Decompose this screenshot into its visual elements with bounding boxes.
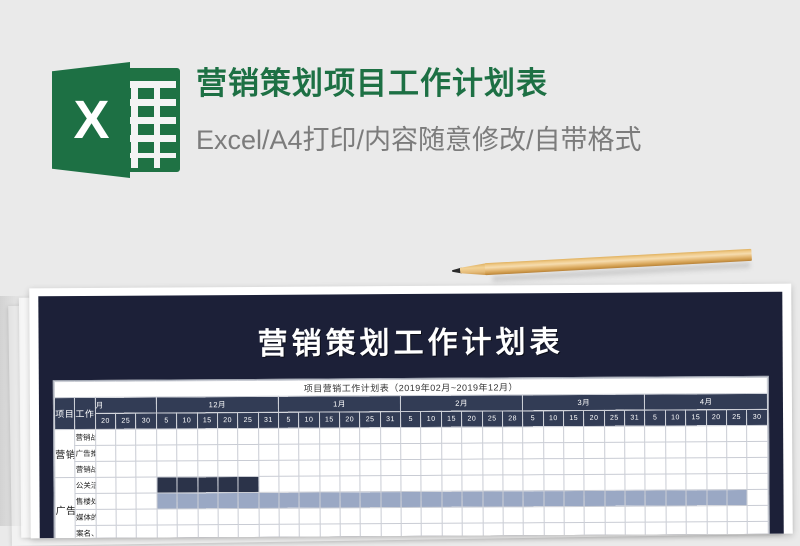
gantt-empty-cell[interactable] (218, 525, 238, 539)
gantt-bar-cell[interactable] (645, 490, 665, 506)
gantt-empty-cell[interactable] (157, 509, 177, 525)
gantt-bar-cell[interactable] (544, 491, 564, 507)
gantt-bar-cell[interactable] (360, 492, 380, 508)
task-label: 广告推广方案制订 (75, 445, 95, 461)
day-header: 31 (258, 412, 278, 428)
gantt-empty-cell[interactable] (462, 507, 482, 523)
brand-text-block: 营销策划项目工作计划表 Excel/A4打印/内容随意修改/自带格式 (196, 62, 642, 157)
project-group-1: 广告宣传 (55, 478, 76, 539)
gantt-empty-cell[interactable] (360, 476, 380, 492)
gantt-empty-cell[interactable] (299, 508, 319, 524)
gantt-empty-cell[interactable] (544, 507, 564, 523)
gantt-empty-cell[interactable] (116, 477, 136, 493)
day-header: 28 (502, 411, 522, 427)
gantt-empty-cell[interactable] (523, 443, 543, 459)
gantt-empty-cell[interactable] (523, 459, 543, 475)
gantt-empty-cell[interactable] (707, 506, 727, 522)
column-header-task: 工作事项 (75, 397, 96, 429)
gantt-empty-cell[interactable] (605, 474, 625, 490)
gantt-empty-cell[interactable] (503, 443, 523, 459)
gantt-empty-cell[interactable] (137, 509, 157, 525)
gantt-bar-cell[interactable] (259, 492, 279, 508)
gantt-empty-cell[interactable] (217, 429, 237, 445)
gantt-empty-cell[interactable] (360, 428, 380, 444)
gantt-empty-cell[interactable] (380, 428, 400, 444)
gantt-empty-cell[interactable] (422, 507, 442, 523)
gantt-empty-cell[interactable] (421, 427, 441, 443)
gantt-empty-cell[interactable] (584, 442, 604, 458)
gantt-bar-cell[interactable] (177, 493, 197, 509)
gantt-empty-cell[interactable] (625, 506, 645, 522)
gantt-empty-cell[interactable] (136, 477, 156, 493)
gantt-empty-cell[interactable] (381, 460, 401, 476)
gantt-empty-cell[interactable] (319, 460, 339, 476)
gantt-empty-cell[interactable] (157, 445, 177, 461)
gantt-empty-cell[interactable] (157, 525, 177, 538)
day-header: 25 (360, 412, 380, 428)
day-header: 20 (706, 410, 726, 426)
gantt-empty-cell[interactable] (197, 445, 217, 461)
task-label: 案名、logo初稿 (76, 525, 96, 538)
gantt-empty-cell[interactable] (665, 442, 685, 458)
gantt-grid: 项目营销工作计划表（2019年02月~2019年12月）项目工作事项月12月1月… (53, 376, 770, 538)
gantt-empty-cell[interactable] (218, 509, 238, 525)
gantt-empty-cell[interactable] (238, 508, 258, 524)
gantt-empty-cell[interactable] (258, 444, 278, 460)
gantt-empty-cell[interactable] (442, 475, 462, 491)
gantt-empty-cell[interactable] (564, 506, 584, 522)
gantt-bar-cell[interactable] (218, 493, 238, 509)
gantt-empty-cell[interactable] (258, 476, 278, 492)
day-header: 31 (380, 412, 400, 428)
gantt-empty-cell[interactable] (666, 458, 686, 474)
gantt-empty-cell[interactable] (523, 475, 543, 491)
gantt-empty-cell[interactable] (645, 458, 665, 474)
gantt-empty-cell[interactable] (198, 525, 218, 539)
page-subtitle: Excel/A4打印/内容随意修改/自带格式 (196, 118, 642, 157)
gantt-empty-cell[interactable] (523, 507, 543, 523)
gantt-bar-cell[interactable] (279, 492, 299, 508)
gantt-empty-cell[interactable] (360, 444, 380, 460)
gantt-empty-cell[interactable] (564, 458, 584, 474)
day-header: 20 (462, 411, 482, 427)
gantt-empty-cell[interactable] (299, 428, 319, 444)
gantt-empty-cell[interactable] (340, 428, 360, 444)
gantt-empty-cell[interactable] (645, 474, 665, 490)
gantt-bar-cell[interactable] (442, 491, 462, 507)
gantt-empty-cell[interactable] (381, 476, 401, 492)
gantt-empty-cell[interactable] (604, 426, 624, 442)
gantt-bar-cell[interactable] (666, 490, 686, 506)
gantt-empty-cell[interactable] (258, 428, 278, 444)
gantt-empty-cell[interactable] (116, 461, 136, 477)
gantt-empty-cell[interactable] (319, 428, 339, 444)
gantt-bar-cell[interactable] (320, 492, 340, 508)
gantt-empty-cell[interactable] (483, 507, 503, 523)
project-group-0: 营销战略制定 (55, 430, 76, 478)
sheet-title: 营销策划工作计划表 (38, 292, 782, 381)
gantt-empty-cell[interactable] (116, 493, 136, 509)
month-header-5: 4月 (645, 393, 768, 410)
month-header-1: 12月 (156, 396, 278, 413)
gantt-bar-cell[interactable] (564, 490, 584, 506)
gantt-empty-cell[interactable] (300, 524, 320, 538)
gantt-bar-cell[interactable] (605, 490, 625, 506)
gantt-empty-cell[interactable] (544, 475, 564, 491)
gantt-empty-cell[interactable] (686, 506, 706, 522)
gantt-empty-cell[interactable] (584, 506, 604, 522)
gantt-bar-cell[interactable] (706, 490, 726, 506)
gantt-empty-cell[interactable] (665, 426, 685, 442)
gantt-empty-cell[interactable] (279, 508, 299, 524)
excel-logo-icon: X (52, 62, 180, 178)
gantt-empty-cell[interactable] (401, 427, 421, 443)
gantt-empty-cell[interactable] (340, 460, 360, 476)
gantt-empty-cell[interactable] (299, 460, 319, 476)
gantt-empty-cell[interactable] (320, 476, 340, 492)
day-header: 30 (136, 413, 156, 429)
day-header: 30 (747, 409, 768, 425)
month-header-3: 2月 (401, 395, 523, 412)
gantt-bar-cell[interactable] (218, 477, 238, 493)
gantt-bar-cell[interactable] (686, 490, 706, 506)
gantt-empty-cell[interactable] (625, 474, 645, 490)
gantt-empty-cell[interactable] (401, 507, 421, 523)
day-header: 5 (278, 412, 298, 428)
gantt-empty-cell[interactable] (136, 429, 156, 445)
gantt-empty-cell[interactable] (747, 425, 768, 441)
gantt-empty-cell[interactable] (747, 473, 768, 489)
day-header: 20 (584, 410, 604, 426)
day-header: 10 (421, 411, 441, 427)
month-header-2: 1月 (278, 396, 400, 413)
gantt-empty-cell[interactable] (177, 445, 197, 461)
day-header: 5 (645, 410, 665, 426)
gantt-bar-cell[interactable] (238, 476, 258, 492)
gantt-bar-cell[interactable] (177, 477, 197, 493)
gantt-bar-cell[interactable] (381, 492, 401, 508)
gantt-empty-cell[interactable] (686, 522, 706, 538)
gantt-empty-cell[interactable] (177, 461, 197, 477)
gantt-empty-cell[interactable] (442, 443, 462, 459)
gantt-empty-cell[interactable] (523, 427, 543, 443)
gantt-empty-cell[interactable] (727, 521, 747, 537)
gantt-empty-cell[interactable] (96, 493, 116, 509)
gantt-empty-cell[interactable] (320, 524, 340, 538)
gantt-bar-cell[interactable] (157, 493, 177, 509)
gantt-bar-cell[interactable] (340, 492, 360, 508)
day-header: 25 (238, 412, 258, 428)
gantt-empty-cell[interactable] (96, 525, 116, 538)
task-label: 售楼处开放活动方案和执行计划 (75, 493, 95, 509)
day-header: 10 (299, 412, 319, 428)
gantt-empty-cell[interactable] (279, 428, 299, 444)
task-label: 营销战略执行方案制订 (75, 429, 95, 445)
gantt-empty-cell[interactable] (197, 429, 217, 445)
task-label: 公关活动整合方案 (75, 477, 95, 493)
gantt-empty-cell[interactable] (197, 461, 217, 477)
gantt-bar-cell[interactable] (483, 491, 503, 507)
gantt-empty-cell[interactable] (727, 441, 747, 457)
column-header-project: 项目 (54, 398, 75, 430)
gantt-empty-cell[interactable] (95, 429, 115, 445)
gantt-empty-cell[interactable] (259, 508, 279, 524)
gantt-empty-cell[interactable] (543, 443, 563, 459)
gantt-bar-cell[interactable] (238, 492, 258, 508)
gantt-empty-cell[interactable] (238, 444, 258, 460)
day-header: 20 (217, 413, 237, 429)
gantt-empty-cell[interactable] (421, 459, 441, 475)
gantt-empty-cell[interactable] (503, 427, 523, 443)
gantt-empty-cell[interactable] (747, 457, 768, 473)
gantt-empty-cell[interactable] (279, 460, 299, 476)
gantt-empty-cell[interactable] (604, 458, 624, 474)
gantt-empty-cell[interactable] (543, 427, 563, 443)
gantt-empty-cell[interactable] (686, 458, 706, 474)
gantt-empty-cell[interactable] (706, 474, 726, 490)
gantt-empty-cell[interactable] (543, 459, 563, 475)
gantt-bar-cell[interactable] (625, 490, 645, 506)
gantt-empty-cell[interactable] (218, 445, 238, 461)
page-title: 营销策划项目工作计划表 (196, 64, 642, 104)
gantt-empty-cell[interactable] (258, 460, 278, 476)
gantt-empty-cell[interactable] (116, 525, 136, 538)
gantt-empty-cell[interactable] (727, 457, 747, 473)
gantt-empty-cell[interactable] (95, 445, 115, 461)
gantt-empty-cell[interactable] (564, 426, 584, 442)
gantt-empty-cell[interactable] (503, 507, 523, 523)
gantt-empty-cell[interactable] (584, 426, 604, 442)
day-header: 15 (319, 412, 339, 428)
day-header: 25 (116, 413, 136, 429)
gantt-empty-cell[interactable] (238, 460, 258, 476)
gantt-empty-cell[interactable] (646, 506, 666, 522)
preview-card: 营销策划工作计划表 项目营销工作计划表（2019年02月~2019年12月）项目… (29, 284, 793, 539)
gantt-empty-cell[interactable] (726, 425, 746, 441)
gantt-empty-cell[interactable] (116, 509, 136, 525)
gantt-empty-cell[interactable] (666, 474, 686, 490)
gantt-empty-cell[interactable] (96, 509, 116, 525)
gantt-empty-cell[interactable] (156, 429, 176, 445)
gantt-empty-cell[interactable] (442, 507, 462, 523)
gantt-bar-cell[interactable] (157, 477, 177, 493)
gantt-empty-cell[interactable] (625, 426, 645, 442)
gantt-empty-cell[interactable] (320, 508, 340, 524)
gantt-empty-cell[interactable] (279, 476, 299, 492)
gantt-empty-cell[interactable] (319, 444, 339, 460)
gantt-empty-cell[interactable] (605, 506, 625, 522)
gantt-empty-cell[interactable] (177, 525, 197, 538)
gantt-empty-cell[interactable] (686, 474, 706, 490)
gantt-empty-cell[interactable] (604, 442, 624, 458)
gantt-empty-cell[interactable] (482, 459, 502, 475)
month-header-4: 3月 (523, 394, 645, 411)
gantt-empty-cell[interactable] (482, 427, 502, 443)
gantt-empty-cell[interactable] (381, 508, 401, 524)
gantt-bar-cell[interactable] (584, 490, 604, 506)
gantt-empty-cell[interactable] (401, 475, 421, 491)
gantt-empty-cell[interactable] (462, 475, 482, 491)
gantt-empty-cell[interactable] (421, 443, 441, 459)
gantt-empty-cell[interactable] (482, 443, 502, 459)
task-label: 营销战略和广告推广方案确定 (75, 461, 95, 477)
gantt-empty-cell[interactable] (340, 444, 360, 460)
gantt-empty-cell[interactable] (421, 475, 441, 491)
gantt-empty-cell[interactable] (503, 475, 523, 491)
month-header-0: 月 (95, 397, 156, 413)
gantt-bar-cell[interactable] (299, 492, 319, 508)
gantt-empty-cell[interactable] (482, 475, 502, 491)
gantt-empty-cell[interactable] (747, 505, 768, 521)
gantt-empty-cell[interactable] (707, 522, 727, 538)
gantt-empty-cell[interactable] (96, 461, 116, 477)
gantt-empty-cell[interactable] (136, 493, 156, 509)
pencil-wood-cone (460, 263, 488, 276)
day-header: 25 (482, 411, 502, 427)
gantt-empty-cell[interactable] (401, 443, 421, 459)
gantt-empty-cell[interactable] (625, 458, 645, 474)
gantt-empty-cell[interactable] (747, 521, 768, 537)
day-header: 15 (686, 410, 706, 426)
brand-header: X 营销策划项目工作计划表 Excel/A4打印/内容随意修改/自带格式 (52, 62, 642, 178)
gantt-bar-cell[interactable] (198, 493, 218, 509)
gantt-bar-cell[interactable] (197, 477, 217, 493)
day-header: 15 (441, 411, 461, 427)
gantt-empty-cell[interactable] (645, 442, 665, 458)
gantt-empty-cell[interactable] (279, 444, 299, 460)
day-header: 20 (95, 413, 115, 429)
day-header: 10 (177, 413, 197, 429)
gantt-empty-cell[interactable] (441, 427, 461, 443)
gantt-empty-cell[interactable] (340, 508, 360, 524)
gantt-empty-cell[interactable] (218, 461, 238, 477)
gantt-empty-cell[interactable] (584, 458, 604, 474)
gantt-empty-cell[interactable] (177, 509, 197, 525)
gantt-empty-cell[interactable] (299, 444, 319, 460)
task-label: 媒体的选择计划 (75, 509, 95, 525)
gantt-empty-cell[interactable] (747, 489, 768, 505)
gantt-empty-cell[interactable] (727, 505, 747, 521)
gantt-empty-cell[interactable] (584, 474, 604, 490)
gantt-empty-cell[interactable] (177, 429, 197, 445)
gantt-empty-cell[interactable] (503, 459, 523, 475)
gantt-bar-cell[interactable] (462, 491, 482, 507)
gantt-empty-cell[interactable] (564, 442, 584, 458)
gantt-empty-cell[interactable] (625, 442, 645, 458)
gantt-empty-cell[interactable] (747, 441, 768, 457)
gantt-empty-cell[interactable] (564, 474, 584, 490)
gantt-table: 项目营销工作计划表（2019年02月~2019年12月）项目工作事项月12月1月… (54, 377, 769, 538)
gantt-empty-cell[interactable] (238, 524, 258, 538)
gantt-empty-cell[interactable] (360, 460, 380, 476)
gantt-bar-cell[interactable] (421, 491, 441, 507)
gantt-empty-cell[interactable] (686, 442, 706, 458)
gantt-empty-cell[interactable] (360, 508, 380, 524)
gantt-empty-cell[interactable] (238, 428, 258, 444)
day-header: 25 (726, 409, 746, 425)
logo-letter: X (52, 62, 130, 178)
gantt-bar-cell[interactable] (727, 489, 747, 505)
gantt-empty-cell[interactable] (299, 476, 319, 492)
gantt-empty-cell[interactable] (727, 473, 747, 489)
day-header: 10 (543, 411, 563, 427)
day-header: 5 (401, 411, 421, 427)
gantt-empty-cell[interactable] (279, 524, 299, 538)
gantt-empty-cell[interactable] (116, 445, 136, 461)
gantt-empty-cell[interactable] (462, 443, 482, 459)
gantt-empty-cell[interactable] (706, 442, 726, 458)
day-header: 5 (156, 413, 176, 429)
gantt-bar-cell[interactable] (523, 491, 543, 507)
gantt-empty-cell[interactable] (462, 427, 482, 443)
day-header: 5 (523, 411, 543, 427)
gantt-empty-cell[interactable] (380, 444, 400, 460)
gantt-empty-cell[interactable] (116, 429, 136, 445)
gantt-empty-cell[interactable] (442, 459, 462, 475)
gantt-empty-cell[interactable] (136, 461, 156, 477)
day-header: 20 (340, 412, 360, 428)
day-header: 25 (604, 410, 624, 426)
gantt-empty-cell[interactable] (401, 459, 421, 475)
gantt-empty-cell[interactable] (96, 477, 116, 493)
spreadsheet-preview: 营销策划工作计划表 项目营销工作计划表（2019年02月~2019年12月）项目… (38, 292, 783, 539)
gantt-empty-cell[interactable] (645, 426, 665, 442)
gantt-empty-cell[interactable] (686, 426, 706, 442)
gantt-bar-cell[interactable] (503, 491, 523, 507)
gantt-empty-cell[interactable] (340, 476, 360, 492)
gantt-empty-cell[interactable] (136, 445, 156, 461)
day-header: 10 (665, 410, 685, 426)
gantt-empty-cell[interactable] (666, 506, 686, 522)
pencil-icon (451, 242, 752, 282)
gantt-bar-cell[interactable] (401, 491, 421, 507)
gantt-empty-cell[interactable] (137, 525, 157, 538)
day-header: 15 (563, 410, 583, 426)
day-header: 31 (625, 410, 645, 426)
gantt-empty-cell[interactable] (706, 458, 726, 474)
gantt-empty-cell[interactable] (157, 461, 177, 477)
day-header: 15 (197, 413, 217, 429)
gantt-empty-cell[interactable] (198, 509, 218, 525)
gantt-empty-cell[interactable] (462, 459, 482, 475)
gantt-empty-cell[interactable] (259, 524, 279, 538)
gantt-empty-cell[interactable] (706, 426, 726, 442)
